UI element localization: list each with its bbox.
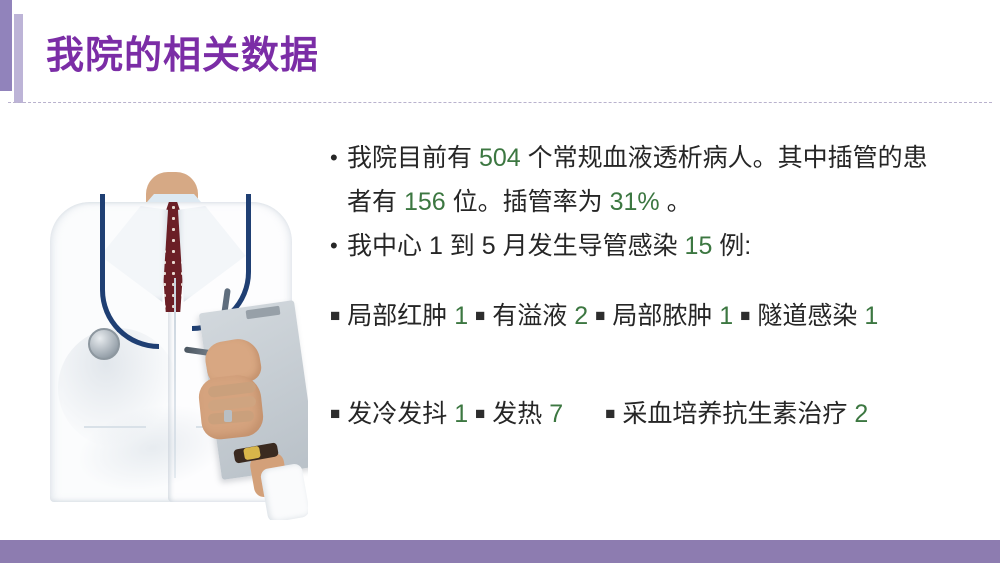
item-separator xyxy=(468,302,475,330)
item-separator xyxy=(468,400,475,428)
square-bullet-icon: ■ xyxy=(330,404,340,423)
item-value: 2 xyxy=(574,302,588,330)
slide-canvas: 我院的相关数据 • xyxy=(0,0,1000,563)
body-text: 我院目前有 xyxy=(347,144,479,172)
square-bullet-icon: ■ xyxy=(605,404,615,423)
title-divider xyxy=(8,102,992,103)
square-block-1: ■ 局部红肿 1 ■ 有溢液 2 ■ 局部脓肿 1 ■ 隧道感染 1 xyxy=(330,292,945,340)
item-value: 7 xyxy=(549,400,563,428)
highlight-value: 31% xyxy=(610,188,660,216)
item-value: 1 xyxy=(454,302,468,330)
bullet-dot-icon: • xyxy=(330,136,347,180)
item-value: 1 xyxy=(719,302,733,330)
photo-ring xyxy=(224,410,232,422)
decor-bar-dark xyxy=(0,0,12,91)
square-bullet-icon: ■ xyxy=(330,306,340,325)
photo-pocket-left xyxy=(84,426,146,428)
stethoscope-bell-icon xyxy=(88,328,120,360)
bullet-dot-icon: • xyxy=(330,224,347,268)
bullet-item-1-text: 我院目前有 504 个常规血液透析病人。其中插管的患者有 156 位。插管率为 … xyxy=(347,136,945,224)
footer-band xyxy=(0,540,1000,563)
square-bullet-icon: ■ xyxy=(740,306,750,325)
highlight-value: 15 xyxy=(685,232,713,260)
body-text: 位。插管率为 xyxy=(446,188,610,216)
square-bullet-icon: ■ xyxy=(475,306,485,325)
item-label: 局部红肿 xyxy=(340,302,454,330)
square-block-2: ■ 发冷发抖 1 ■ 发热 7■ 采血培养抗生素治疗 2 xyxy=(330,390,945,438)
bullet-item-2: • 我中心 1 到 5 月发生导管感染 15 例: xyxy=(330,224,945,268)
body-text: 。 xyxy=(660,188,692,216)
square-bullet-icon: ■ xyxy=(595,306,605,325)
page-title: 我院的相关数据 xyxy=(46,36,319,78)
bullet-item-2-text: 我中心 1 到 5 月发生导管感染 15 例: xyxy=(347,224,945,268)
item-value: 2 xyxy=(854,400,868,428)
doctor-photo xyxy=(38,158,308,520)
highlight-value: 156 xyxy=(404,188,446,216)
body-text: 我中心 1 到 5 月发生导管感染 xyxy=(347,232,685,260)
decor-bar-light xyxy=(14,14,23,103)
item-value: 1 xyxy=(864,302,878,330)
item-label: 发冷发抖 xyxy=(340,400,454,428)
item-label: 局部脓肿 xyxy=(605,302,719,330)
body-text: 例: xyxy=(712,232,751,260)
bullet-item-1: • 我院目前有 504 个常规血液透析病人。其中插管的患者有 156 位。插管率… xyxy=(330,136,945,224)
item-label: 采血培养抗生素治疗 xyxy=(615,400,854,428)
item-label: 发热 xyxy=(485,400,549,428)
photo-sleeve-cuff xyxy=(260,463,308,520)
item-label: 有溢液 xyxy=(485,302,574,330)
square-bullet-icon: ■ xyxy=(475,404,485,423)
item-label: 隧道感染 xyxy=(750,302,864,330)
item-value: 1 xyxy=(454,400,468,428)
highlight-value: 504 xyxy=(479,144,521,172)
content-body: • 我院目前有 504 个常规血液透析病人。其中插管的患者有 156 位。插管率… xyxy=(330,136,945,438)
